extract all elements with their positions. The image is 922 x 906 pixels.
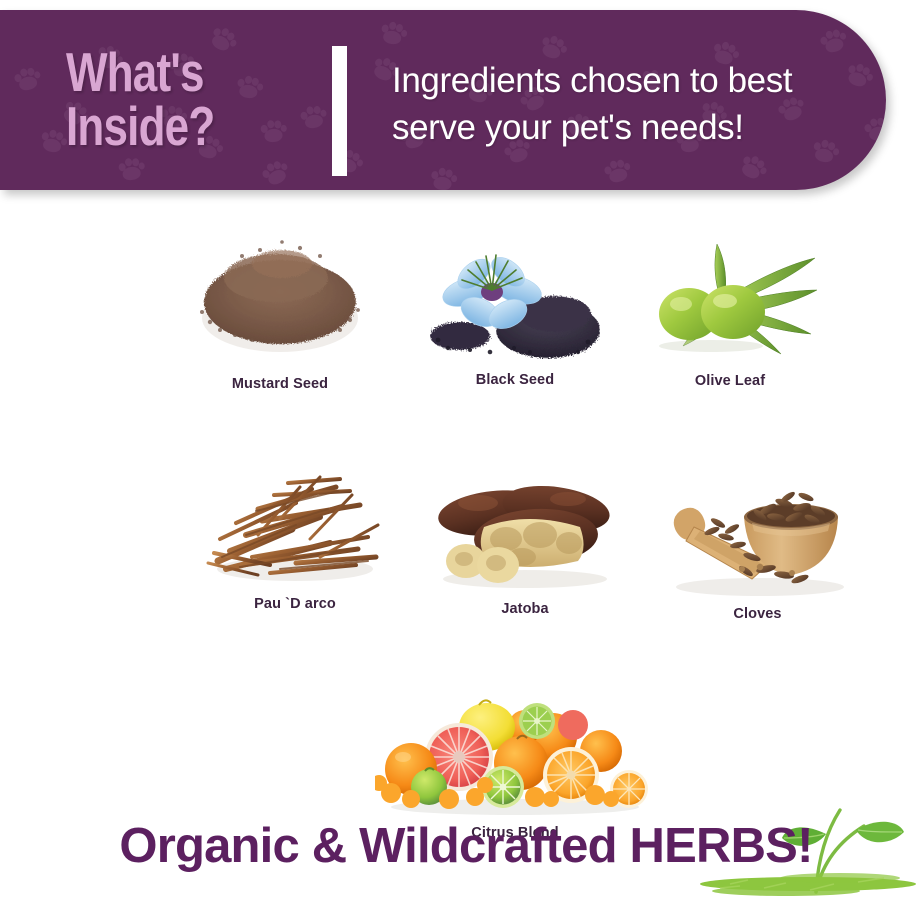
- ingredient-black-seed: Black Seed: [425, 236, 605, 388]
- header-banner: What's Inside? Ingredients chosen to bes…: [0, 10, 886, 190]
- citrus-fruits-image: [375, 687, 655, 819]
- ingredient-label: Jatoba: [425, 601, 625, 617]
- black-seed-flower-image: [430, 236, 600, 366]
- ingredient-pau-darco: Pau `D arco: [185, 465, 405, 612]
- ingredient-jatoba: Jatoba: [425, 465, 625, 617]
- footer-banner: Organic & Wildcrafted HERBS!: [0, 818, 922, 906]
- ingredients-row: Mustard Seed: [0, 196, 922, 418]
- banner-heading: What's Inside?: [66, 46, 330, 154]
- ingredients-grid: Mustard Seed: [0, 196, 922, 793]
- ingredients-row: Citrus Blend: [0, 643, 922, 793]
- ingredient-mustard-seed: Mustard Seed: [180, 230, 380, 392]
- mustard-seed-pile-image: [190, 230, 370, 370]
- banner-tagline: Ingredients chosen to best serve your pe…: [392, 58, 792, 151]
- banner-divider: [332, 46, 347, 176]
- ingredients-row: Pau `D arco: [0, 418, 922, 643]
- ingredient-cloves: Cloves: [660, 475, 855, 622]
- ingredient-label: Olive Leaf: [640, 373, 820, 389]
- jatoba-pods-image: [428, 465, 623, 595]
- footer-headline: Organic & Wildcrafted HERBS!: [0, 818, 922, 874]
- ingredient-label: Mustard Seed: [180, 376, 380, 392]
- olive-leaf-image: [643, 242, 818, 367]
- pau-d-arco-bark-image: [200, 465, 390, 590]
- ingredient-label: Pau `D arco: [185, 596, 405, 612]
- ingredient-label: Cloves: [660, 606, 855, 622]
- infographic-page: What's Inside? Ingredients chosen to bes…: [0, 0, 922, 906]
- cloves-bowl-image: [660, 475, 855, 600]
- ingredient-olive-leaf: Olive Leaf: [640, 242, 820, 389]
- ingredient-label: Black Seed: [425, 372, 605, 388]
